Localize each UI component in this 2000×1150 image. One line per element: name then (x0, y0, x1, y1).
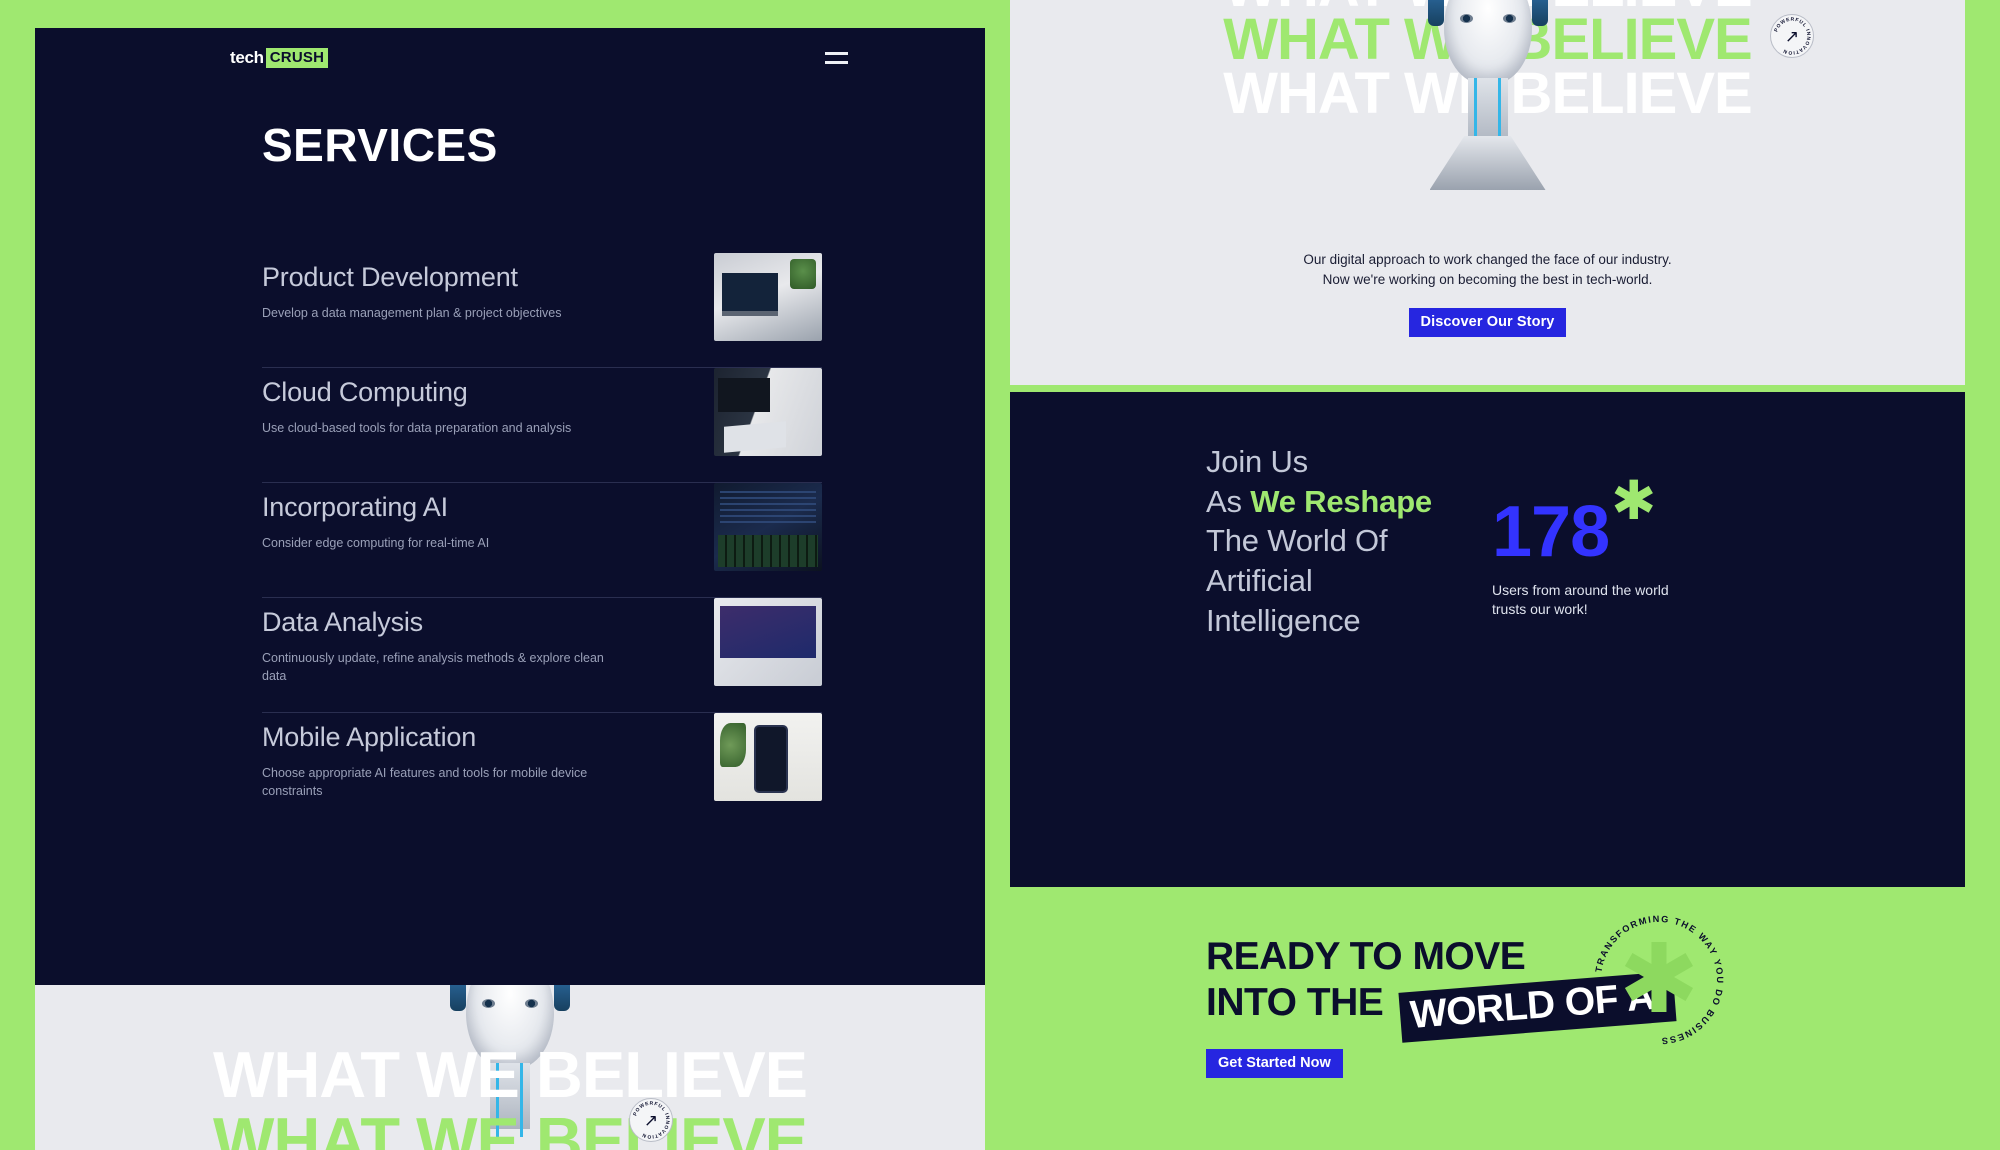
join-us-panel: Join Us As We Reshape The World Of Artif… (1010, 392, 1965, 887)
powerful-innovation-badge[interactable]: POWERFUL INNOVATION ↗ (629, 1098, 673, 1142)
believe-headline-green: WHAT WE BELIEVE (213, 1103, 807, 1150)
logo-text-primary: tech (230, 48, 264, 68)
header-bar: tech CRUSH (230, 46, 850, 70)
transforming-seal: TRANSFORMING THE WAY YOU DO BUSINESS ✱ (1588, 909, 1730, 1051)
believe-strip-preview: WHAT WE BELIEVE WHAT WE BELIEVE POWERFUL… (35, 985, 985, 1150)
service-description: Develop a data management plan & project… (262, 304, 562, 322)
service-description: Use cloud-based tools for data preparati… (262, 419, 571, 437)
what-we-believe-panel: WHAT WE BELIEVE WHAT WE BELIEVE WHAT WE … (1010, 0, 1965, 385)
join-heading-line3: The World Of (1206, 521, 1432, 561)
robot-eye-right (1503, 14, 1516, 23)
page-root: tech CRUSH SERVICES Product Development … (0, 0, 2000, 1150)
join-heading-line5: Intelligence (1206, 601, 1432, 641)
cta-panel: READY TO MOVE INTO THE WORLD OF AI Get S… (1010, 887, 1965, 1150)
badge-ring-label: POWERFUL INNOVATION (632, 1101, 670, 1140)
believe-paragraph-line2: Now we're working on becoming the best i… (1010, 270, 1965, 290)
robot-eye-left (1460, 14, 1473, 23)
service-name: Incorporating AI (262, 493, 489, 523)
service-thumbnail-smartphone-plant (714, 713, 822, 801)
asterisk-icon: ✱ (1619, 932, 1699, 1028)
service-description: Continuously update, refine analysis met… (262, 649, 622, 685)
stat-caption-line1: Users from around the world (1492, 581, 1782, 600)
service-item-incorporating-ai[interactable]: Incorporating AI Consider edge computing… (262, 483, 822, 597)
robot-eye-right (525, 999, 538, 1008)
service-description: Consider edge computing for real-time AI (262, 534, 489, 552)
join-heading-line2: As We Reshape (1206, 482, 1432, 522)
badge-ring-text: POWERFUL INNOVATION (630, 1099, 672, 1141)
service-name: Cloud Computing (262, 378, 571, 408)
service-thumbnail-dashboard-laptop (714, 598, 822, 686)
join-heading: Join Us As We Reshape The World Of Artif… (1206, 442, 1432, 640)
left-column: tech CRUSH SERVICES Product Development … (35, 28, 985, 1150)
stat-caption: Users from around the world trusts our w… (1492, 581, 1782, 620)
logo-text-badge: CRUSH (266, 48, 328, 68)
stat-caption-line2: trusts our work! (1492, 600, 1782, 619)
svg-text:POWERFUL INNOVATION: POWERFUL INNOVATION (1773, 17, 1811, 56)
service-description: Choose appropriate AI features and tools… (262, 764, 622, 800)
robot-shoulders (1430, 136, 1546, 190)
join-heading-line1: Join Us (1206, 442, 1432, 482)
badge-ring-label: POWERFUL INNOVATION (1773, 17, 1811, 56)
hamburger-icon[interactable] (823, 46, 850, 70)
hamburger-bar (825, 61, 848, 64)
service-item-mobile-application[interactable]: Mobile Application Choose appropriate AI… (262, 713, 822, 827)
stat-number-wrapper: 178 ✱ (1492, 500, 1609, 565)
users-stat-block: 178 ✱ Users from around the world trusts… (1492, 500, 1782, 619)
discover-our-story-button[interactable]: Discover Our Story (1409, 308, 1567, 337)
join-heading-line4: Artificial (1206, 561, 1432, 601)
service-item-product-development[interactable]: Product Development Develop a data manag… (262, 253, 822, 367)
asterisk-icon: ✱ (1611, 480, 1653, 522)
services-list: Product Development Develop a data manag… (262, 253, 822, 827)
right-column: WHAT WE BELIEVE WHAT WE BELIEVE WHAT WE … (1010, 0, 1965, 1150)
service-item-data-analysis[interactable]: Data Analysis Continuously update, refin… (262, 598, 822, 712)
robot-ear-left-icon (1428, 0, 1444, 26)
services-panel: tech CRUSH SERVICES Product Development … (35, 28, 985, 985)
service-item-cloud-computing[interactable]: Cloud Computing Use cloud-based tools fo… (262, 368, 822, 482)
robot-ear-right-icon (554, 985, 570, 1011)
stat-number: 178 (1492, 492, 1609, 572)
believe-copy-block: Our digital approach to work changed the… (1010, 250, 1965, 337)
service-name: Mobile Application (262, 723, 622, 753)
join-heading-prefix: As (1206, 484, 1250, 519)
badge-ring-text: POWERFUL INNOVATION (1771, 15, 1813, 57)
service-name: Product Development (262, 263, 562, 293)
robot-ear-left-icon (450, 985, 466, 1011)
robot-head-image (1425, 0, 1551, 190)
hamburger-bar (825, 52, 848, 55)
service-thumbnail-laptop-coding (714, 253, 822, 341)
service-thumbnail-dark-code (714, 483, 822, 571)
get-started-now-button[interactable]: Get Started Now (1206, 1049, 1343, 1078)
svg-text:POWERFUL INNOVATION: POWERFUL INNOVATION (632, 1101, 670, 1140)
believe-headline-white: WHAT WE BELIEVE (213, 1037, 807, 1112)
robot-face (1444, 0, 1532, 84)
join-heading-accent: We Reshape (1250, 484, 1432, 519)
believe-paragraph-line1: Our digital approach to work changed the… (1010, 250, 1965, 270)
powerful-innovation-badge[interactable]: POWERFUL INNOVATION ↗ (1770, 14, 1814, 58)
service-thumbnail-desk-monitor (714, 368, 822, 456)
brand-logo[interactable]: tech CRUSH (230, 48, 328, 68)
robot-ear-right-icon (1532, 0, 1548, 26)
robot-eye-left (482, 999, 495, 1008)
service-name: Data Analysis (262, 608, 622, 638)
page-title: SERVICES (262, 118, 498, 172)
cta-heading-prefix: INTO THE (1206, 981, 1394, 1024)
